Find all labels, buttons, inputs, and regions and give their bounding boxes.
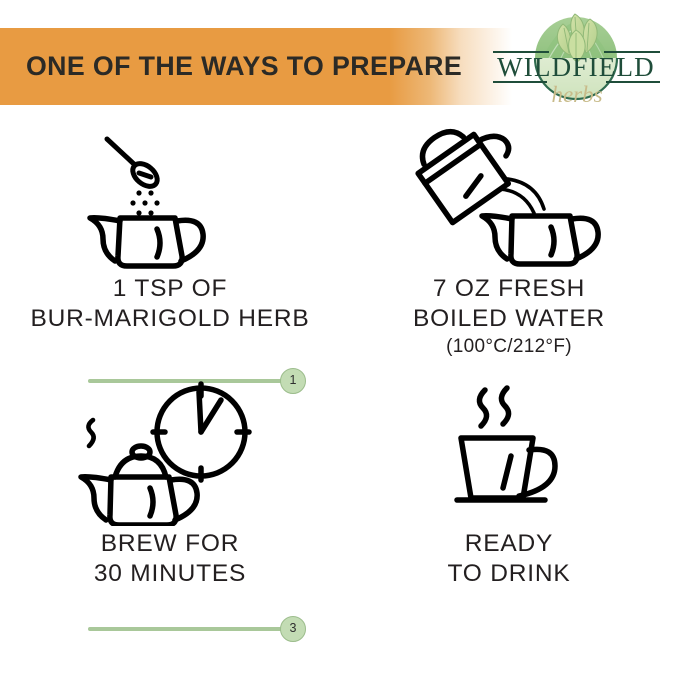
- kettle-pouring-water-into-teapot-icon: [339, 118, 679, 273]
- clock-icon: [153, 384, 249, 480]
- herb-specks: [130, 190, 159, 215]
- step-3-progress-bar: [88, 627, 293, 631]
- step-2-line-1: 7 OZ FRESH: [339, 274, 679, 304]
- step-1-line-1: 1 TSP OF: [0, 274, 340, 304]
- teapot-with-clock-icon: [0, 373, 340, 528]
- step-4: READY TO DRINK 4: [339, 373, 679, 645]
- step-3-line-2: 30 MINUTES: [0, 559, 340, 589]
- logo-sub-text: herbs: [551, 82, 602, 107]
- step-3-line-1: BREW FOR: [0, 529, 340, 559]
- step-4-line-1: READY: [339, 529, 679, 559]
- steam-icon: [88, 420, 93, 446]
- step-1-line-2: BUR-MARIGOLD HERB: [0, 304, 340, 334]
- step-2-caption: 7 OZ FRESH BOILED WATER (100°C/212°F): [339, 274, 679, 360]
- step-2-temperature: (100°C/212°F): [339, 334, 679, 360]
- steam-icon: [479, 388, 508, 426]
- preparation-steps: 1 TSP OF BUR-MARIGOLD HERB 1: [0, 118, 679, 678]
- step-1-caption: 1 TSP OF BUR-MARIGOLD HERB: [0, 274, 340, 334]
- step-3-number-badge: 3: [280, 616, 306, 642]
- step-1: 1 TSP OF BUR-MARIGOLD HERB 1: [0, 118, 340, 390]
- step-3-caption: BREW FOR 30 MINUTES: [0, 529, 340, 589]
- spoon-pouring-herb-into-teapot-icon: [0, 118, 340, 273]
- step-4-caption: READY TO DRINK: [339, 529, 679, 589]
- step-4-line-2: TO DRINK: [339, 559, 679, 589]
- logo-brand-text: WILDFIELD: [497, 52, 655, 82]
- steaming-teacup-icon: [339, 373, 679, 528]
- step-3-progress: 3: [88, 616, 306, 642]
- step-3: BREW FOR 30 MINUTES 3: [0, 373, 340, 645]
- step-2-line-2: BOILED WATER: [339, 304, 679, 334]
- page-title: ONE OF THE WAYS TO PREPARE: [26, 28, 462, 105]
- brand-logo: WILDFIELD herbs: [489, 2, 664, 116]
- step-2: 7 OZ FRESH BOILED WATER (100°C/212°F) 2: [339, 118, 679, 390]
